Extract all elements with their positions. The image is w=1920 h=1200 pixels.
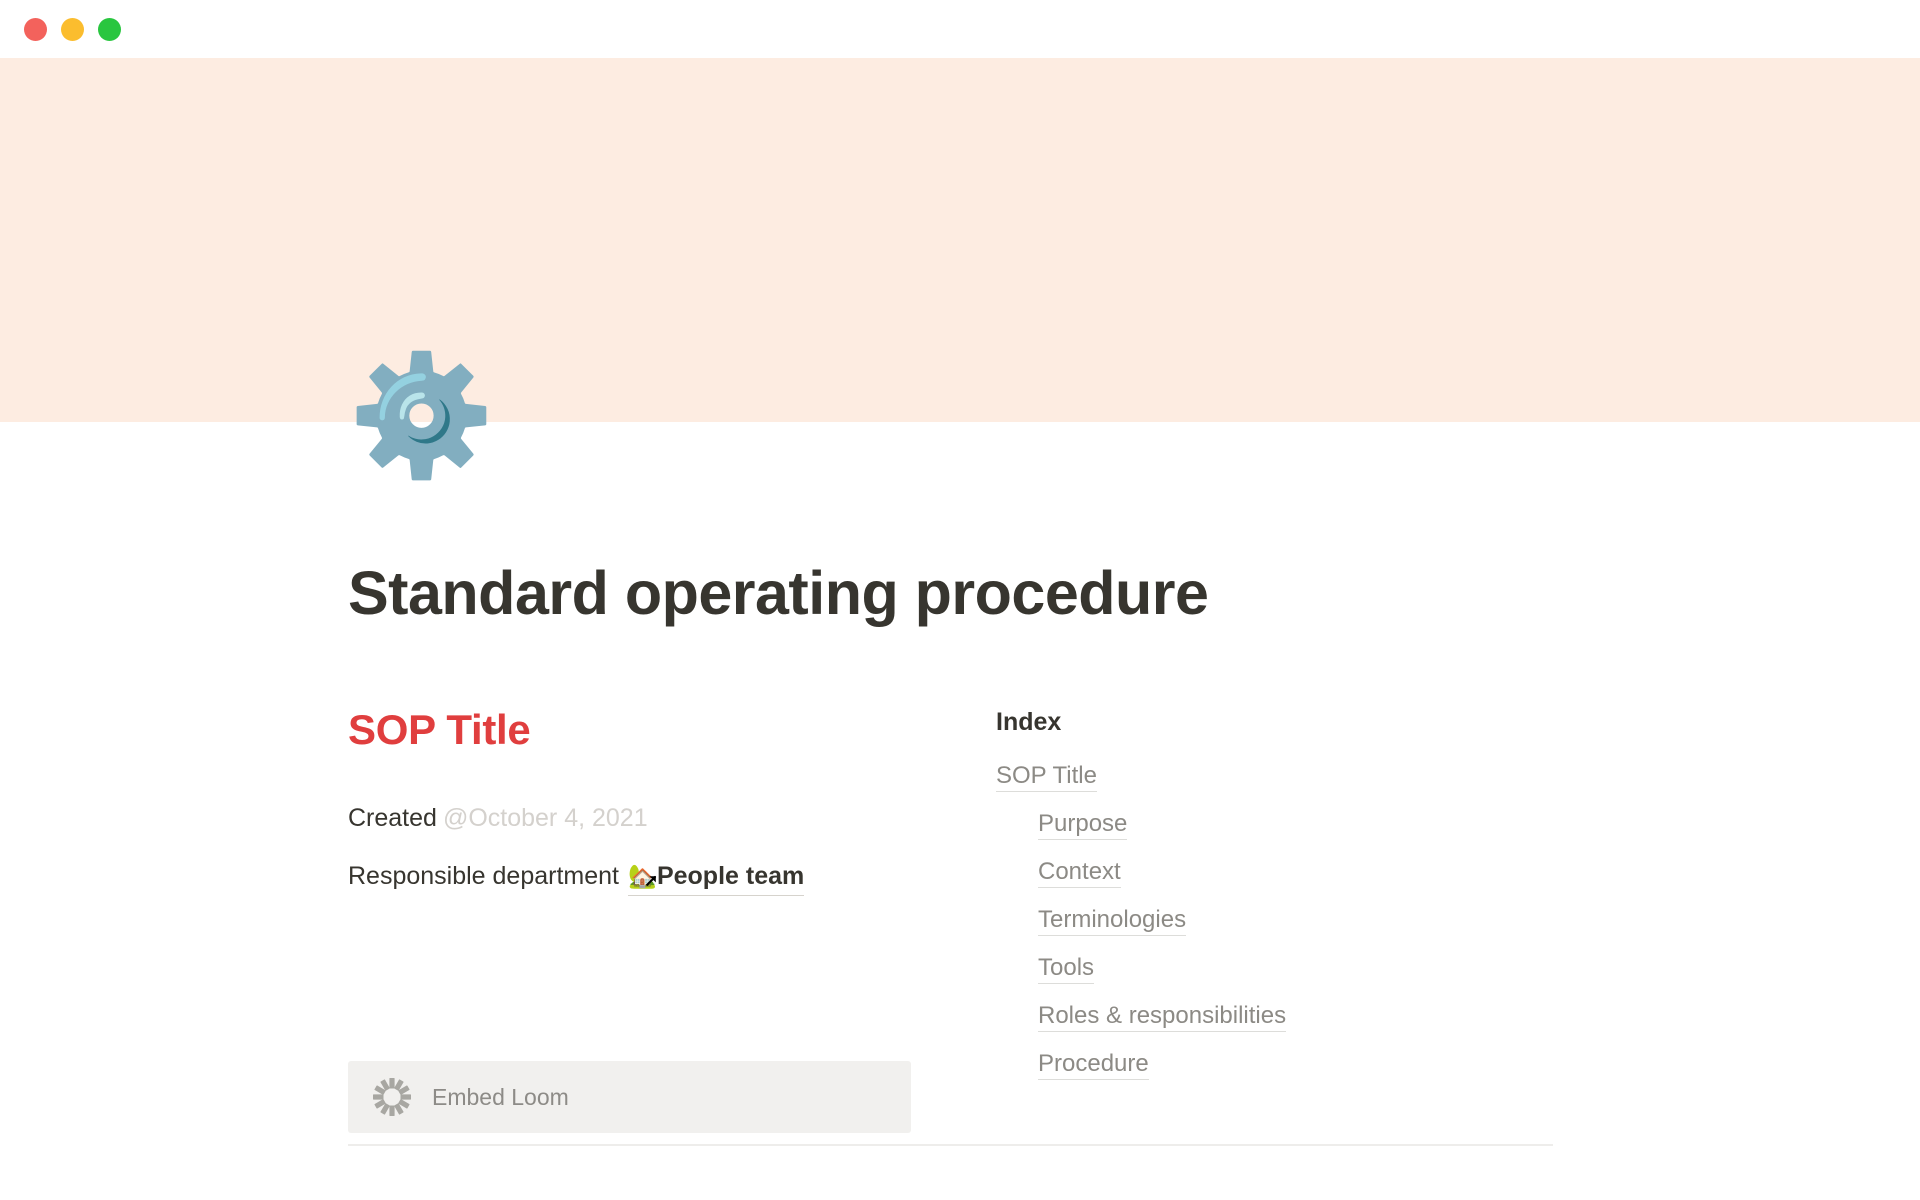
- created-label: Created: [348, 804, 437, 832]
- gear-icon[interactable]: ⚙️: [348, 350, 480, 482]
- index-item-terminologies: Terminologies: [996, 905, 1556, 936]
- index-link-context[interactable]: Context: [1038, 857, 1121, 888]
- minimize-window-button[interactable]: [61, 18, 84, 41]
- window-titlebar: [0, 0, 1920, 58]
- external-link-arrow-icon: [644, 872, 660, 888]
- index-item-tools: Tools: [996, 953, 1556, 984]
- index-link-sop-title[interactable]: SOP Title: [996, 761, 1097, 792]
- embed-loom-label: Embed Loom: [432, 1084, 569, 1111]
- close-window-button[interactable]: [24, 18, 47, 41]
- index-item-purpose: Purpose: [996, 809, 1556, 840]
- index-link-tools[interactable]: Tools: [1038, 953, 1094, 984]
- people-team-label: People team: [657, 858, 804, 896]
- people-team-link[interactable]: 🏡 People team: [628, 858, 804, 897]
- section-divider: [348, 1144, 1553, 1146]
- traffic-light-group: [24, 18, 121, 41]
- embed-loom-block[interactable]: Embed Loom: [348, 1061, 911, 1133]
- responsible-department-row: Responsible department 🏡 People team: [348, 858, 928, 897]
- index-list: SOP Title Purpose Context Terminologies …: [996, 761, 1556, 1080]
- app-window: ⚙️ Standard operating procedure SOP Titl…: [0, 0, 1920, 1200]
- index-link-roles[interactable]: Roles & responsibilities: [1038, 1001, 1286, 1032]
- house-with-garden-icon: 🏡: [628, 858, 656, 884]
- content-column-right: Index SOP Title Purpose Context Terminol…: [996, 706, 1556, 1097]
- created-date-mention[interactable]: @October 4, 2021: [443, 804, 648, 832]
- content-column-left: SOP Title Created@October 4, 2021 Respon…: [348, 706, 928, 896]
- index-link-terminologies[interactable]: Terminologies: [1038, 905, 1186, 936]
- responsible-department-label: Responsible department: [348, 862, 619, 890]
- index-link-purpose[interactable]: Purpose: [1038, 809, 1127, 840]
- index-item-procedure: Procedure: [996, 1049, 1556, 1080]
- zoom-window-button[interactable]: [98, 18, 121, 41]
- sop-title-heading[interactable]: SOP Title: [348, 706, 928, 754]
- index-item-context: Context: [996, 857, 1556, 888]
- created-row: Created@October 4, 2021: [348, 800, 928, 838]
- page-body: ⚙️ Standard operating procedure SOP Titl…: [0, 58, 1920, 1200]
- loom-icon: [372, 1077, 412, 1117]
- page-title[interactable]: Standard operating procedure: [348, 558, 1208, 628]
- index-item-roles: Roles & responsibilities: [996, 1001, 1556, 1032]
- index-heading: Index: [996, 706, 1556, 739]
- index-link-procedure[interactable]: Procedure: [1038, 1049, 1149, 1080]
- index-item-sop-title: SOP Title: [996, 761, 1556, 792]
